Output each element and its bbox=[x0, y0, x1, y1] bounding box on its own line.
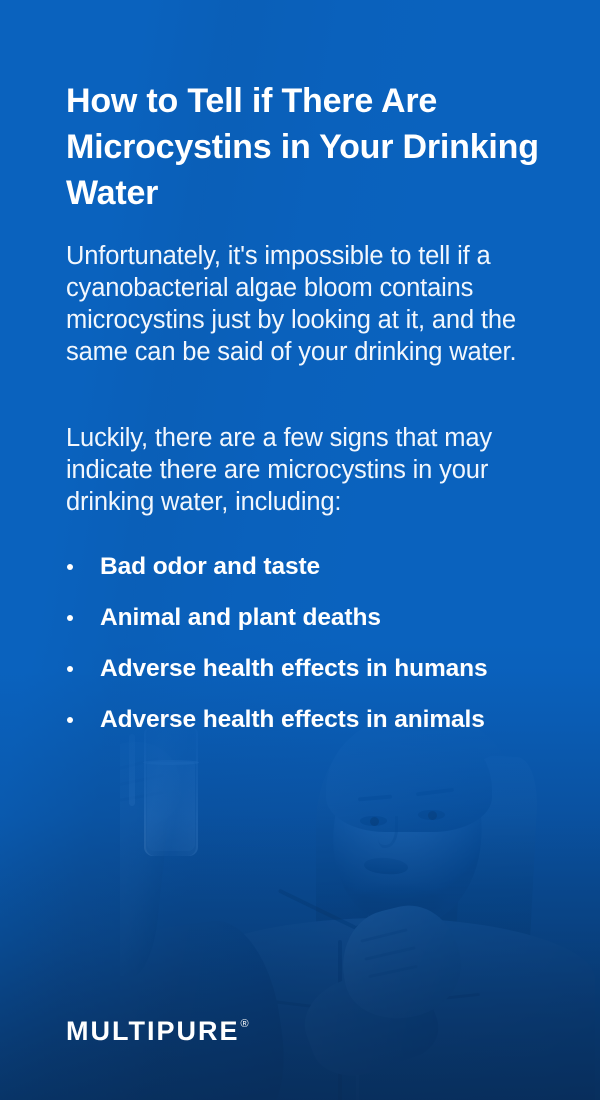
registered-trademark-icon: ® bbox=[241, 1019, 249, 1030]
list-item-label: Animal and plant deaths bbox=[100, 604, 381, 631]
bullet-dot-icon bbox=[67, 564, 73, 570]
logo-wordmark: MULTIPURE bbox=[66, 1016, 240, 1046]
content-area: How to Tell if There Are Microcystins in… bbox=[0, 0, 600, 1100]
list-item-label: Bad odor and taste bbox=[100, 553, 320, 580]
list-item-label: Adverse health effects in humans bbox=[100, 655, 488, 682]
signs-list: Bad odor and taste Animal and plant deat… bbox=[66, 552, 540, 756]
list-item-label: Adverse health effects in animals bbox=[100, 706, 485, 733]
page-title: How to Tell if There Are Microcystins in… bbox=[66, 78, 540, 216]
bullet-dot-icon bbox=[67, 666, 73, 672]
brand-logo: MULTIPURE ® bbox=[66, 1016, 249, 1046]
list-item: Adverse health effects in humans bbox=[66, 654, 540, 684]
intro-paragraph: Unfortunately, it's impossible to tell i… bbox=[66, 240, 536, 368]
list-item: Animal and plant deaths bbox=[66, 603, 540, 633]
lead-in-paragraph: Luckily, there are a few signs that may … bbox=[66, 422, 536, 518]
bullet-dot-icon bbox=[67, 717, 73, 723]
list-item: Bad odor and taste bbox=[66, 552, 540, 582]
poster-canvas: How to Tell if There Are Microcystins in… bbox=[0, 0, 600, 1100]
bullet-dot-icon bbox=[67, 615, 73, 621]
list-item: Adverse health effects in animals bbox=[66, 705, 540, 735]
